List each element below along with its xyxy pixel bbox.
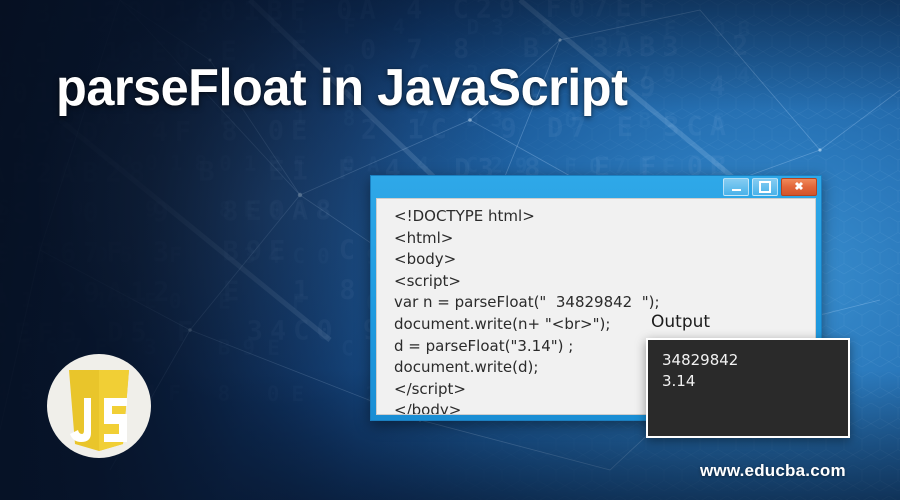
slide-canvas: 6 B 12901801BF 0A 4 C29 F07EF 9A1 18E0 E…: [0, 0, 900, 500]
output-label: Output: [651, 312, 710, 332]
output-text: 34829842 3.14: [648, 340, 848, 392]
maximize-button[interactable]: [752, 178, 778, 196]
output-console: 34829842 3.14: [646, 338, 850, 438]
window-controls: ✖: [723, 178, 817, 196]
page-title: parseFloat in JavaScript: [56, 58, 627, 118]
window-titlebar[interactable]: ✖: [371, 176, 821, 198]
footer-website-url[interactable]: www.educba.com: [700, 461, 846, 481]
close-button[interactable]: ✖: [781, 178, 817, 196]
javascript-logo: [47, 354, 151, 458]
minimize-button[interactable]: [723, 178, 749, 196]
